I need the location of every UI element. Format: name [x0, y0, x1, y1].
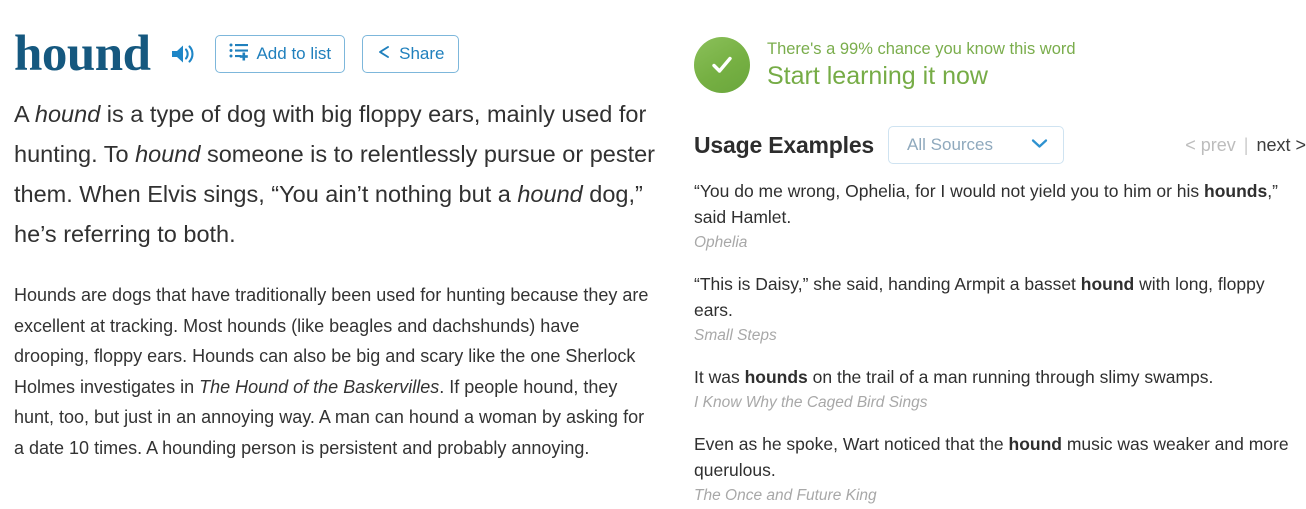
example-source[interactable]: Ophelia: [694, 231, 1306, 255]
learning-banner[interactable]: There's a 99% chance you know this word …: [694, 0, 1306, 93]
short-definition: A hound is a type of dog with big floppy…: [14, 94, 659, 254]
share-label: Share: [399, 44, 444, 64]
list-add-icon: [229, 42, 249, 66]
pager-separator: |: [1244, 135, 1249, 156]
long-definition: Hounds are dogs that have traditionally …: [14, 280, 650, 463]
usage-example-item: “This is Daisy,” she said, handing Armpi…: [694, 271, 1306, 348]
share-icon-svg: [376, 44, 392, 60]
source-filter-select[interactable]: All Sources: [888, 126, 1064, 164]
usage-examples-list: “You do me wrong, Ophelia, for I would n…: [694, 178, 1306, 508]
usage-examples-title: Usage Examples: [694, 132, 874, 159]
example-sentence: “This is Daisy,” she said, handing Armpi…: [694, 271, 1300, 323]
example-source[interactable]: I Know Why the Caged Bird Sings: [694, 391, 1306, 415]
speaker-icon[interactable]: [168, 39, 198, 69]
word-definition-page: hound: [0, 0, 1306, 509]
usage-example-item: “You do me wrong, Ophelia, for I would n…: [694, 178, 1306, 255]
usage-examples-header: Usage Examples All Sources < prev | next…: [694, 125, 1306, 165]
examples-pager: < prev | next >: [1185, 135, 1306, 156]
examples-column: There's a 99% chance you know this word …: [694, 0, 1306, 509]
next-page-button[interactable]: next >: [1256, 135, 1306, 156]
definition-column: hound: [14, 0, 662, 509]
check-icon-svg: [707, 50, 737, 80]
learning-banner-text: There's a 99% chance you know this word …: [767, 39, 1076, 91]
check-circle-icon[interactable]: [694, 37, 750, 93]
list-add-icon-svg: [229, 42, 249, 61]
share-icon: [376, 44, 392, 65]
speaker-icon-svg: [170, 43, 196, 65]
prev-page-button[interactable]: < prev: [1185, 135, 1236, 156]
chevron-down-icon: [1031, 136, 1048, 154]
start-learning-link[interactable]: Start learning it now: [767, 61, 1076, 91]
example-sentence: Even as he spoke, Wart noticed that the …: [694, 431, 1300, 483]
page-title: hound: [14, 29, 150, 80]
knowledge-chance-text: There's a 99% chance you know this word: [767, 39, 1076, 60]
example-source[interactable]: Small Steps: [694, 324, 1306, 348]
chevron-down-icon-svg: [1031, 138, 1048, 149]
example-sentence: It was hounds on the trail of a man runn…: [694, 364, 1300, 390]
usage-example-item: Even as he spoke, Wart noticed that the …: [694, 431, 1306, 508]
source-filter-value: All Sources: [907, 135, 993, 155]
word-header: hound: [14, 0, 662, 86]
add-to-list-label: Add to list: [256, 44, 331, 64]
example-source[interactable]: The Once and Future King: [694, 484, 1306, 508]
share-button[interactable]: Share: [362, 35, 458, 73]
example-sentence: “You do me wrong, Ophelia, for I would n…: [694, 178, 1300, 230]
usage-example-item: It was hounds on the trail of a man runn…: [694, 364, 1306, 415]
add-to-list-button[interactable]: Add to list: [215, 35, 345, 73]
